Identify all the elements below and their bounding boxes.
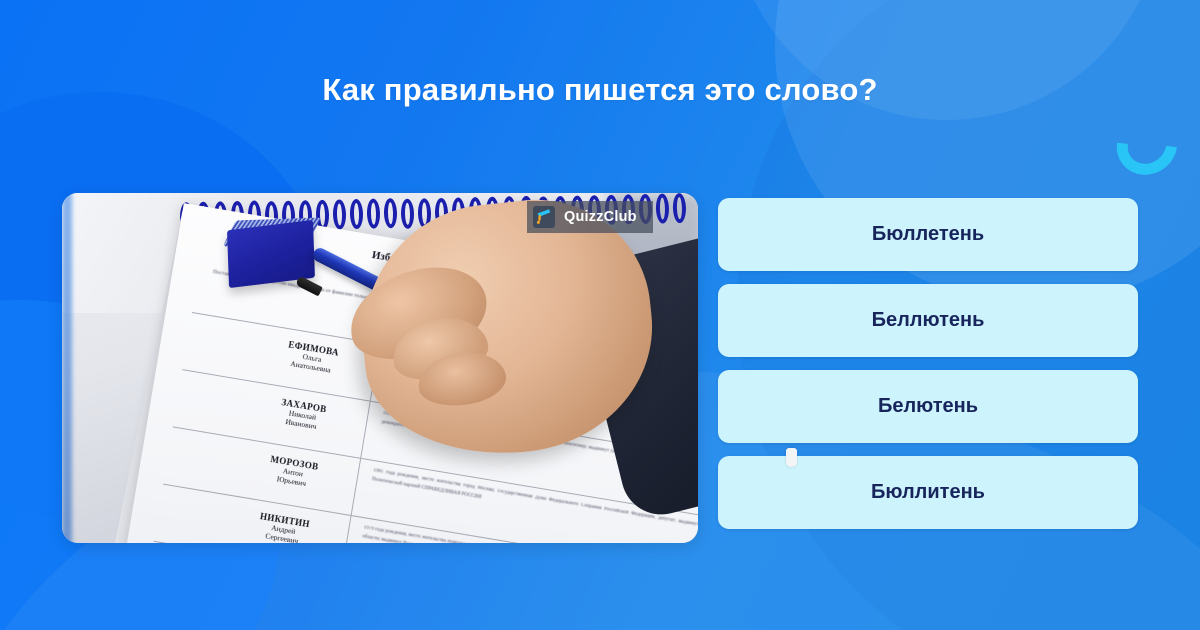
ballot-candidate-name: МОРОЗОВ Антон Юрьевич <box>232 448 355 495</box>
cursor-handle-artifact[interactable] <box>786 448 797 467</box>
graduation-cap-icon <box>533 206 555 228</box>
quizzclub-brand-label: QuizzClub <box>564 209 637 225</box>
ballot-candidate-name: ЗАХАРОВ Николай Иванович <box>241 391 364 438</box>
answer-option-4[interactable]: Бюллитень <box>718 456 1138 529</box>
cyan-arc-decoration-icon <box>1105 103 1190 187</box>
question-image-card: Избирательный бюллетень для голосования … <box>62 193 698 543</box>
answer-option-2[interactable]: Беллютень <box>718 284 1138 357</box>
photo-left-edge-tint <box>62 193 72 543</box>
answer-option-1[interactable]: Бюллетень <box>718 198 1138 271</box>
quiz-question-card: Как правильно пишется это слово? Избират… <box>0 0 1200 630</box>
question-title: Как правильно пишется это слово? <box>0 72 1200 108</box>
answer-option-3[interactable]: Белютень <box>718 370 1138 443</box>
quizzclub-watermark: QuizzClub <box>527 201 653 233</box>
answer-options-list: Бюллетень Беллютень Белютень Бюллитень <box>718 198 1138 529</box>
ballot-candidate-name: НИКИТИН Андрей Сергеевич <box>222 505 345 543</box>
